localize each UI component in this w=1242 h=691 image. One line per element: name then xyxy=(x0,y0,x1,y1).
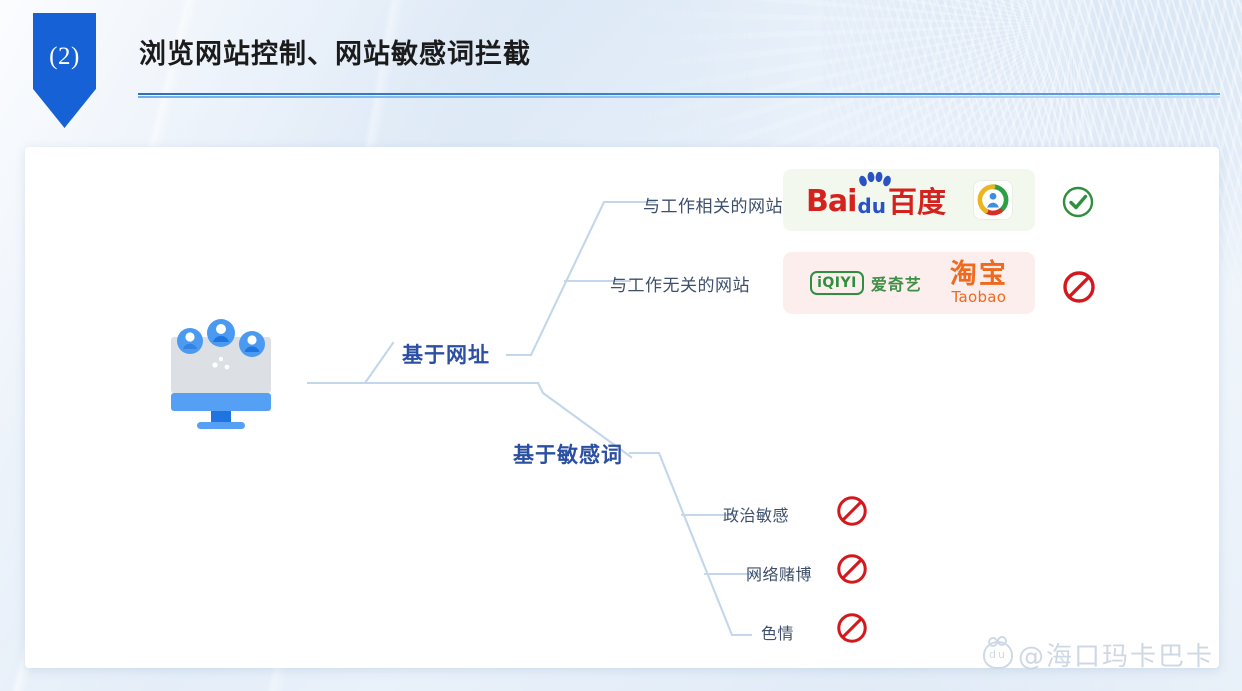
monitor-users-icon xyxy=(163,319,279,429)
page-title: 浏览网站控制、网站敏感词拦截 xyxy=(139,32,531,71)
leaf-label-work-related[interactable]: 与工作相关的网站 xyxy=(643,192,783,217)
iqiyi-logo-cn: 爱奇艺 xyxy=(871,271,922,295)
baidu-paw-icon xyxy=(858,172,892,196)
logo-chip-allowed-sites: Bai du 百度 xyxy=(783,169,1035,231)
baidu-logo-bai: Bai xyxy=(806,187,856,217)
connector-to-by-url xyxy=(365,343,393,383)
app-circle-icon xyxy=(974,181,1012,219)
branch-label-by-keyword[interactable]: 基于敏感词 xyxy=(513,439,623,469)
leaf-label-pornography[interactable]: 色情 xyxy=(761,620,794,644)
status-icon-blocked-sites xyxy=(1061,269,1097,310)
title-rule-line-light xyxy=(138,96,1220,98)
baidu-logo-du: du xyxy=(857,196,886,216)
iqiyi-logo: iQIYI 爱奇艺 xyxy=(810,271,922,295)
branch-label-by-url[interactable]: 基于网址 xyxy=(402,339,490,369)
slide: (2) 浏览网站控制、网站敏感词拦截 xyxy=(0,0,1242,691)
taobao-logo-cn: 淘宝 xyxy=(950,261,1008,288)
taobao-logo: 淘宝 Taobao xyxy=(950,261,1008,305)
logo-chip-blocked-sites: iQIYI 爱奇艺 淘宝 Taobao xyxy=(783,252,1035,314)
content-card: 基于网址 基于敏感词 与工作相关的网站 与工作无关的网站 Bai du 百度 xyxy=(25,147,1219,668)
status-icon-allowed xyxy=(1061,185,1095,224)
taobao-logo-en: Taobao xyxy=(950,290,1008,305)
mindmap-diagram: 基于网址 基于敏感词 与工作相关的网站 与工作无关的网站 Bai du 百度 xyxy=(25,147,1219,668)
baidu-logo-cn: 百度 xyxy=(888,188,946,217)
status-icon-blocked-gambling xyxy=(835,552,869,591)
status-icon-blocked-political xyxy=(835,494,869,533)
iqiyi-logo-en: iQIYI xyxy=(810,271,864,295)
title-rule-line-dark xyxy=(138,93,1220,95)
baidu-logo: Bai du 百度 xyxy=(806,183,946,217)
connector-by-keyword-spine xyxy=(630,453,751,635)
title-underline-rule xyxy=(138,93,1220,98)
leaf-label-work-unrelated[interactable]: 与工作无关的网站 xyxy=(610,271,750,296)
leaf-label-gambling[interactable]: 网络赌博 xyxy=(746,561,812,585)
leaf-label-political[interactable]: 政治敏感 xyxy=(723,502,789,526)
status-icon-blocked-pornography xyxy=(835,611,869,650)
section-number-banner: (2) xyxy=(33,13,96,128)
section-number-label: (2) xyxy=(49,44,80,69)
